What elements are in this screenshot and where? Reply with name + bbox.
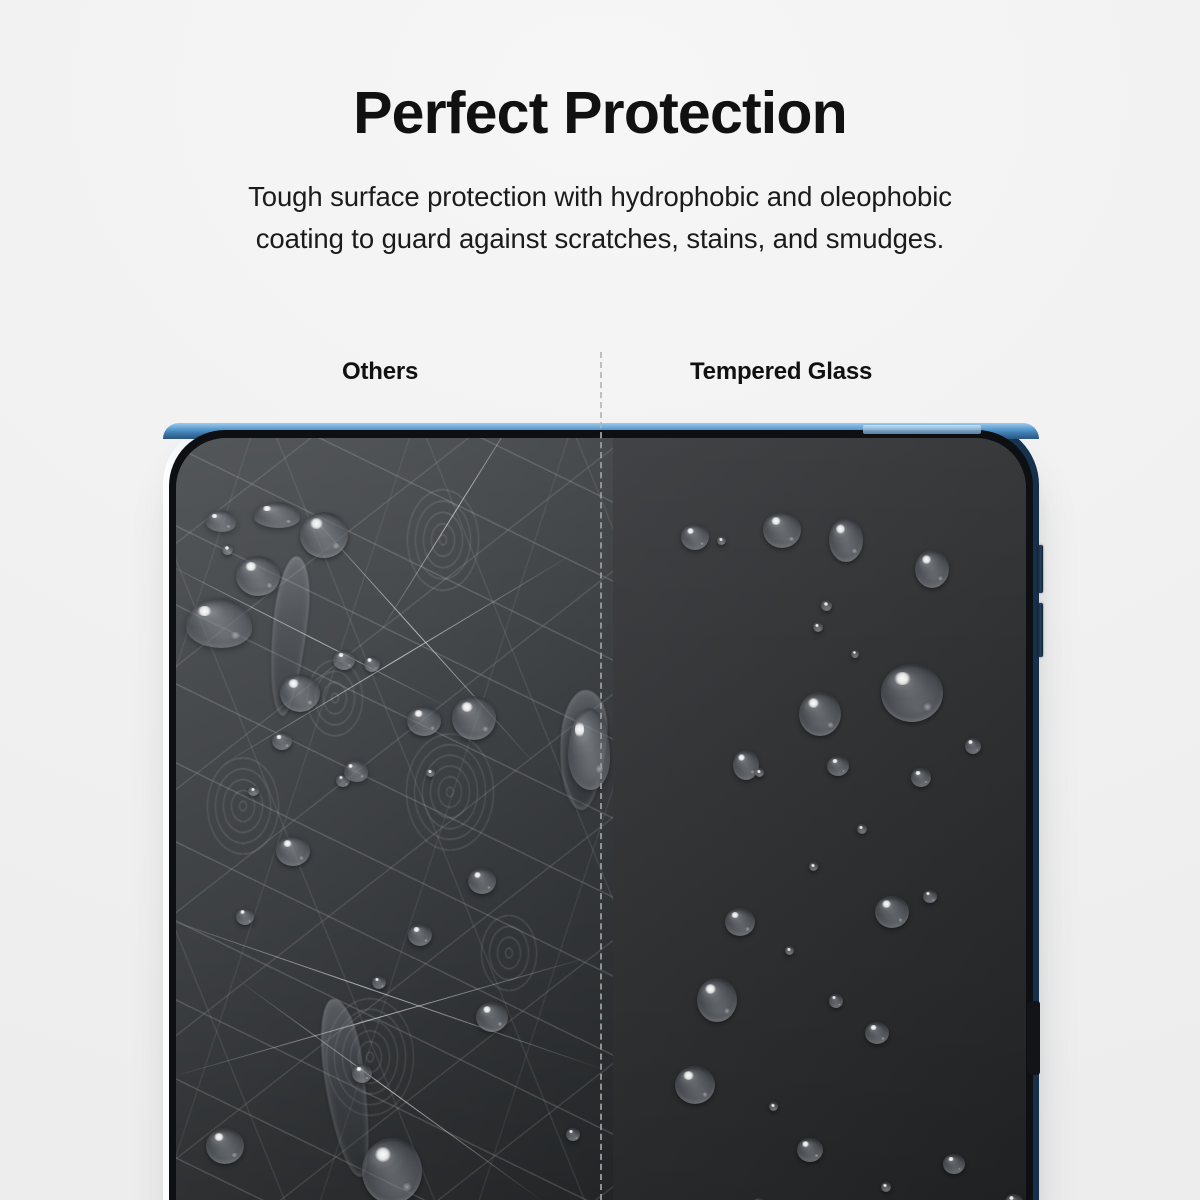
water-droplet xyxy=(333,650,355,670)
comparison-divider-overlay xyxy=(600,432,602,1200)
water-droplet xyxy=(248,786,259,796)
water-droplet xyxy=(468,868,496,894)
water-droplet xyxy=(206,510,236,532)
water-droplet xyxy=(566,1128,580,1141)
water-droplet xyxy=(681,524,709,550)
water-droplet xyxy=(236,908,254,925)
water-droplet xyxy=(829,994,843,1008)
water-droplet xyxy=(372,976,386,989)
fingerprint-smudge xyxy=(402,482,484,598)
side-edge-cutout xyxy=(1027,1001,1040,1075)
fingerprint-smudge xyxy=(402,728,498,856)
water-droplet xyxy=(965,738,981,754)
surface-tempered-glass xyxy=(613,438,1026,1200)
water-droplet xyxy=(222,544,233,555)
water-droplet xyxy=(827,756,849,776)
water-droplet xyxy=(476,1002,508,1032)
label-tempered-glass: Tempered Glass xyxy=(690,358,872,386)
header: Perfect Protection Tough surface protect… xyxy=(0,0,1200,259)
page-subtitle: Tough surface protection with hydrophobi… xyxy=(0,176,1200,260)
water-droplet xyxy=(865,1022,889,1044)
water-droplet xyxy=(923,890,937,903)
water-droplet xyxy=(911,768,931,787)
water-droplet xyxy=(809,862,818,871)
water-droplet xyxy=(186,598,252,648)
water-droplet xyxy=(813,622,823,632)
water-droplet xyxy=(407,706,441,736)
water-droplet xyxy=(697,978,737,1022)
water-droplet xyxy=(300,512,348,558)
volume-up-button[interactable] xyxy=(1038,545,1043,593)
water-droplet xyxy=(344,760,368,782)
water-droplet xyxy=(851,650,859,658)
water-droplet xyxy=(915,550,949,588)
water-droplet xyxy=(875,896,909,928)
water-droplet xyxy=(857,824,867,834)
water-droplet xyxy=(943,1154,965,1174)
fingerprint-smudge xyxy=(206,756,280,856)
water-droplet xyxy=(881,1182,891,1192)
water-droplet xyxy=(829,518,863,562)
water-droplet xyxy=(785,946,794,955)
subtitle-line-2: coating to guard against scratches, stai… xyxy=(0,218,1200,260)
water-droplet xyxy=(452,696,496,740)
water-droplet xyxy=(755,768,764,777)
surface-others xyxy=(176,438,613,1200)
water-droplet xyxy=(276,836,310,866)
page-title: Perfect Protection xyxy=(0,82,1200,146)
water-droplet xyxy=(272,732,292,750)
water-droplet xyxy=(881,664,943,722)
water-droplet xyxy=(797,1138,823,1162)
water-droplet xyxy=(426,768,435,777)
water-droplet xyxy=(821,600,832,611)
water-droplet xyxy=(254,502,300,528)
water-droplet xyxy=(206,1128,244,1164)
label-others: Others xyxy=(342,358,418,386)
water-droplet xyxy=(675,1066,715,1104)
subtitle-line-1: Tough surface protection with hydrophobi… xyxy=(0,176,1200,218)
water-droplet xyxy=(408,924,432,946)
water-droplet xyxy=(236,556,280,596)
water-droplet xyxy=(763,512,801,548)
water-droplet xyxy=(362,1138,422,1200)
fingerprint-smudge xyxy=(476,908,542,998)
water-droplet xyxy=(733,750,759,780)
water-droplet xyxy=(717,536,726,545)
water-droplet xyxy=(799,692,841,736)
water-droplet xyxy=(725,908,755,936)
water-droplet xyxy=(352,1064,372,1083)
water-droplet xyxy=(280,674,320,712)
volume-down-button[interactable] xyxy=(1038,603,1043,657)
antenna-band xyxy=(863,425,981,434)
water-droplet xyxy=(769,1102,778,1111)
water-droplet xyxy=(364,656,380,672)
